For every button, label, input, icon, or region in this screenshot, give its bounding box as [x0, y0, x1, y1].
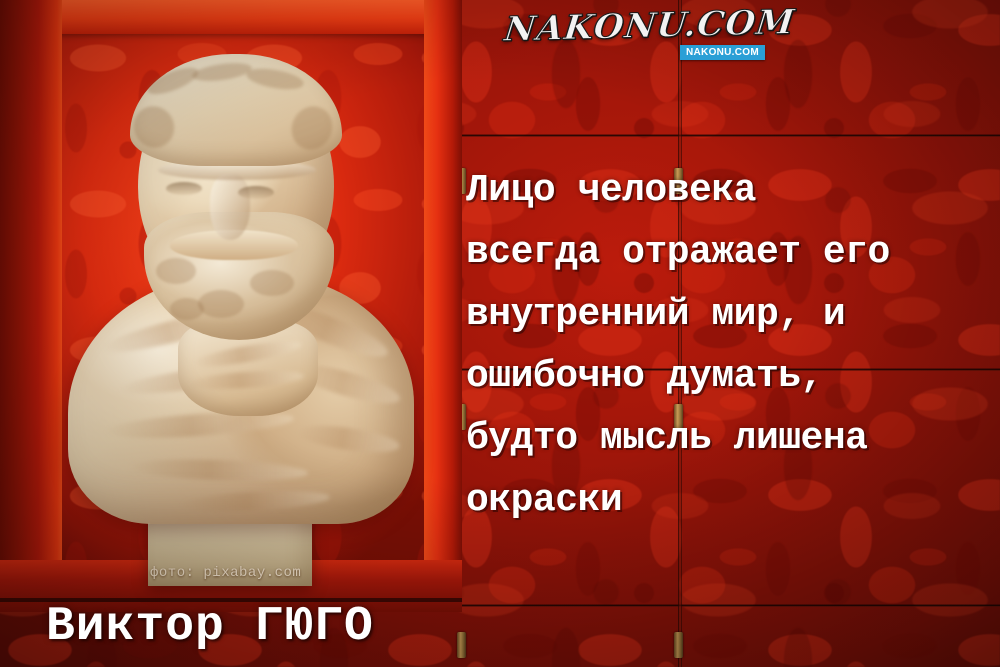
quote-line: будто мысль лишена — [466, 408, 1000, 470]
quote-line: ошибочно думать, — [466, 346, 1000, 408]
quote-line: окраски — [466, 470, 1000, 532]
quote-text-block: Лицо человека всегда отражает его внутре… — [466, 160, 1000, 532]
quote-line: всегда отражает его — [466, 222, 1000, 284]
watermark-script-text: NAKONU.COM — [502, 2, 797, 50]
quote-line: внутренний мир, и — [466, 284, 1000, 346]
watermark-badge: NAKONU.COM — [680, 45, 765, 60]
quote-author-name: Виктор ГЮГО — [46, 600, 374, 654]
quote-line: Лицо человека — [466, 160, 1000, 222]
quote-card: фото: pixabay.com NAKONU.COM NAKONU.COM … — [0, 0, 1000, 667]
watermark-logo[interactable]: NAKONU.COM NAKONU.COM — [505, 6, 755, 68]
